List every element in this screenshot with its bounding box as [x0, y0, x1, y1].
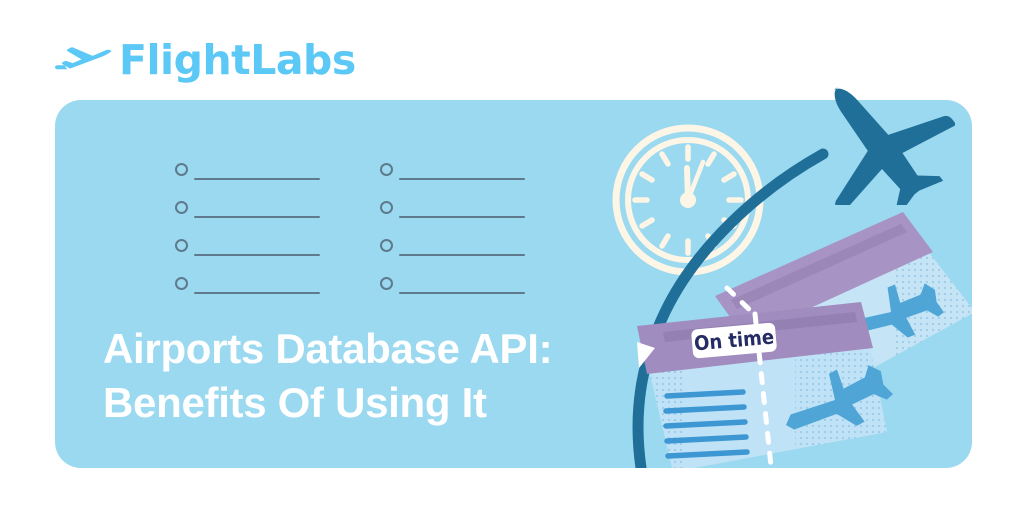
- list-item[interactable]: [175, 162, 320, 176]
- list-item[interactable]: [380, 162, 525, 176]
- blank-line: [399, 178, 525, 180]
- wall-clock-icon: [616, 128, 760, 272]
- hero-banner: FlightLabs: [0, 0, 1024, 512]
- airplane-icon: [55, 43, 113, 77]
- checklist: [175, 162, 595, 290]
- list-item[interactable]: [380, 200, 525, 214]
- empty-circle-icon[interactable]: [175, 201, 188, 214]
- blank-line: [194, 254, 320, 256]
- empty-circle-icon[interactable]: [380, 201, 393, 214]
- empty-circle-icon[interactable]: [380, 277, 393, 290]
- list-item[interactable]: [175, 276, 320, 290]
- page-title: Airports Database API: Benefits Of Using…: [103, 322, 663, 430]
- blank-line: [194, 292, 320, 294]
- checklist-column-2: [380, 162, 525, 290]
- list-item[interactable]: [175, 238, 320, 252]
- blank-line: [399, 216, 525, 218]
- list-item[interactable]: [380, 276, 525, 290]
- checklist-column-1: [175, 162, 320, 290]
- boarding-pass-front: [637, 288, 898, 468]
- empty-circle-icon[interactable]: [175, 277, 188, 290]
- empty-circle-icon[interactable]: [175, 239, 188, 252]
- blank-line: [194, 178, 320, 180]
- hero-panel: On time: [55, 100, 972, 468]
- blank-line: [194, 216, 320, 218]
- page-title-line-2: Benefits Of Using It: [103, 376, 663, 430]
- brand-name: FlightLabs: [119, 40, 356, 81]
- empty-circle-icon[interactable]: [380, 163, 393, 176]
- empty-circle-icon[interactable]: [380, 239, 393, 252]
- empty-circle-icon[interactable]: [175, 163, 188, 176]
- list-item[interactable]: [175, 200, 320, 214]
- list-item[interactable]: [380, 238, 525, 252]
- brand-logo[interactable]: FlightLabs: [55, 36, 356, 84]
- blank-line: [399, 254, 525, 256]
- blank-line: [399, 292, 525, 294]
- page-title-line-1: Airports Database API:: [103, 325, 552, 372]
